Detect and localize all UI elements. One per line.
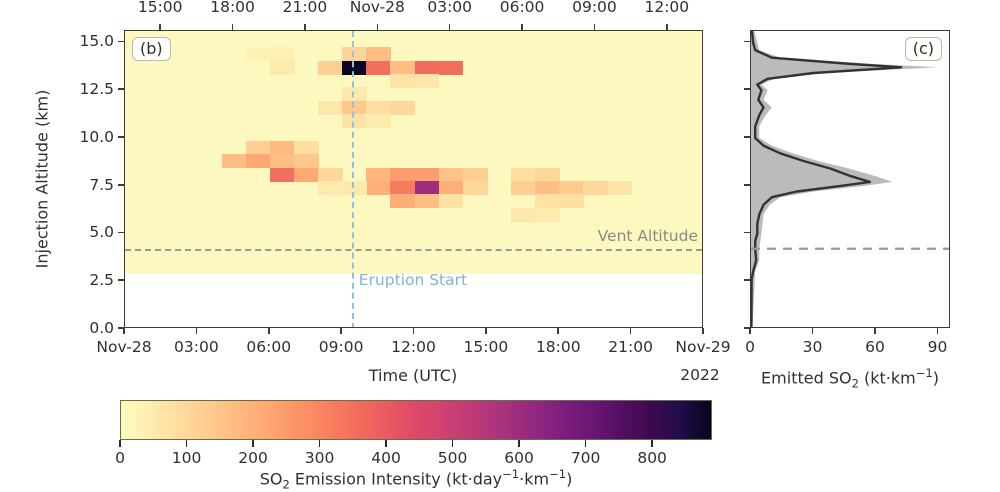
panel-c-xlabel-unit: (kt·km	[859, 368, 916, 387]
colorbar-tick: 500	[438, 449, 468, 467]
colorbar-tick-mark	[252, 440, 253, 447]
colorbar-label-mid: Emission Intensity (kt·day	[290, 469, 502, 488]
heatmap-cell	[439, 168, 464, 182]
colorbar-tick: 200	[238, 449, 268, 467]
heatmap-cell	[270, 141, 295, 155]
year-label: 2022	[680, 366, 719, 384]
heatmap-cell	[366, 47, 391, 61]
heatmap-cell	[366, 101, 391, 115]
colorbar-label-main: SO	[260, 469, 283, 488]
heatmap-cell	[342, 87, 367, 101]
top-axis-tick: 21:00	[283, 0, 328, 16]
heatmap-cell	[294, 141, 319, 155]
figure-root: 15:0018:0021:00Nov-2803:0006:0009:0012:0…	[0, 0, 1000, 489]
heatmap-cell	[415, 74, 440, 88]
panel-c-xlabel-close: )	[933, 368, 939, 387]
heatmap-cell	[342, 181, 367, 195]
heatmap-cell	[222, 154, 247, 168]
panel-b-ytick-mark	[118, 184, 124, 186]
heatmap-cell	[246, 47, 271, 61]
eruption-start-line	[352, 31, 354, 328]
colorbar-tick-mark	[651, 440, 652, 447]
heatmap-cell	[342, 114, 367, 128]
heatmap-cell	[318, 181, 343, 195]
panel-c-xtick: 60	[865, 338, 885, 356]
heatmap-cell	[390, 61, 415, 75]
colorbar-tick: 600	[504, 449, 534, 467]
heatmap-cell	[390, 168, 415, 182]
heatmap-cell	[390, 101, 415, 115]
colorbar-tick-mark	[585, 440, 586, 447]
colorbar-label-close: )	[566, 469, 572, 488]
panel-b-ytick: 15.0	[79, 32, 114, 50]
colorbar-tick: 400	[371, 449, 401, 467]
panel-b-ytick-mark	[118, 279, 124, 281]
heatmap-cell	[511, 181, 536, 195]
heatmap-cell	[535, 208, 560, 222]
heatmap-cell	[535, 194, 560, 208]
colorbar-tick-mark	[319, 440, 320, 447]
panel-b-ytick: 10.0	[79, 128, 114, 146]
panel-b-ytick: 0.0	[89, 319, 114, 337]
heatmap-cell	[318, 101, 343, 115]
colorbar-tick-mark	[385, 440, 386, 447]
colorbar-gradient	[121, 401, 711, 439]
heatmap-cell	[294, 154, 319, 168]
top-axis-tick: Nov-28	[350, 0, 405, 16]
heatmap-cell	[439, 61, 464, 75]
panel-c-xtick-mark	[749, 328, 751, 334]
heatmap-cell	[366, 114, 391, 128]
panel-b-xtick-mark	[413, 328, 415, 334]
panel-c-profile: (c)	[750, 30, 950, 328]
panel-c-ytick-mark	[744, 136, 750, 138]
panel-c-ytick-mark	[744, 88, 750, 90]
colorbar-label-exp2: −1	[549, 467, 566, 481]
panel-b-xtick: 06:00	[246, 338, 291, 356]
heatmap-cell	[439, 181, 464, 195]
panel-b-ylabel: Injection Altitude (km)	[33, 90, 52, 269]
colorbar-label-sub: 2	[282, 478, 289, 492]
panel-c-xlabel-exp: −1	[916, 366, 933, 380]
top-axis-tick: 06:00	[500, 0, 545, 16]
heatmap-cell	[270, 61, 295, 75]
eruption-start-label: Eruption Start	[359, 271, 467, 289]
colorbar-tick: 0	[115, 449, 125, 467]
heatmap-cell	[390, 74, 415, 88]
heatmap-cell	[390, 181, 415, 195]
heatmap-cell	[511, 168, 536, 182]
panel-b-xlabel: Time (UTC)	[369, 366, 457, 385]
vent-altitude-label: Vent Altitude	[598, 227, 698, 245]
panel-b-ytick: 12.5	[79, 80, 114, 98]
panel-b-xtick: 15:00	[464, 338, 509, 356]
colorbar-tick-mark	[518, 440, 519, 447]
panel-c-xtick: 0	[745, 338, 755, 356]
panel-c-xtick: 90	[928, 338, 948, 356]
panel-b-ytick-mark	[118, 88, 124, 90]
top-axis-tick: 12:00	[644, 0, 689, 16]
colorbar-label-exp1: −1	[502, 467, 519, 481]
panel-c-xlabel-sub: 2	[852, 377, 859, 391]
panel-b-xtick-mark	[123, 328, 125, 334]
colorbar-tick: 700	[571, 449, 601, 467]
colorbar	[120, 400, 712, 440]
panel-b-xtick-mark	[557, 328, 559, 334]
heatmap-cell	[366, 61, 391, 75]
panel-b-ytick: 5.0	[89, 223, 114, 241]
panel-b-xtick-mark	[702, 328, 704, 334]
vent-altitude-line	[125, 249, 702, 251]
panel-b-xtick: Nov-29	[675, 338, 730, 356]
heatmap-cell	[608, 181, 633, 195]
colorbar-tick: 300	[305, 449, 335, 467]
heatmap-cell	[559, 194, 584, 208]
panel-b-ytick: 2.5	[89, 271, 114, 289]
heatmap-cell	[511, 208, 536, 222]
colorbar-tick-mark	[119, 440, 120, 447]
heatmap-cell	[342, 47, 367, 61]
profile-plot-svg	[751, 31, 950, 328]
heatmap-cell	[246, 141, 271, 155]
heatmap-cell	[342, 101, 367, 115]
heatmap-cell	[270, 154, 295, 168]
panel-c-xtick: 30	[803, 338, 823, 356]
top-axis-tick: 03:00	[427, 0, 472, 16]
heatmap-cell	[583, 181, 608, 195]
panel-c-xtick-mark	[874, 328, 876, 334]
colorbar-label: SO2 Emission Intensity (kt·day−1·km−1)	[260, 467, 573, 492]
colorbar-label-dot: ·km	[519, 469, 549, 488]
panel-c-ytick-mark	[744, 184, 750, 186]
panel-b-xtick: 03:00	[174, 338, 219, 356]
panel-b-xtick: Nov-28	[96, 338, 151, 356]
panel-b-ytick: 7.5	[89, 176, 114, 194]
heatmap-cell	[463, 168, 488, 182]
heatmap-cell	[366, 181, 391, 195]
colorbar-tick: 100	[172, 449, 202, 467]
colorbar-tick-mark	[452, 440, 453, 447]
heatmap-cell	[366, 168, 391, 182]
panel-b-xtick: 18:00	[536, 338, 581, 356]
panel-b-ytick-mark	[118, 136, 124, 138]
heatmap-cell	[318, 61, 343, 75]
panel-b-xtick-mark	[630, 328, 632, 334]
heatmap-cell	[390, 194, 415, 208]
heatmap-cell	[415, 168, 440, 182]
panel-b-heatmap: Vent Altitude Eruption Start (b)	[124, 30, 703, 328]
panel-c-xlabel: Emitted SO2 (kt·km−1)	[761, 366, 939, 391]
colorbar-tick: 800	[637, 449, 667, 467]
uncertainty-band	[751, 31, 939, 328]
panel-b-ytick-mark	[118, 232, 124, 234]
top-axis-tick: 18:00	[210, 0, 255, 16]
heatmap-cell	[559, 181, 584, 195]
panel-b-xtick-mark	[340, 328, 342, 334]
panel-c-xtick-mark	[937, 328, 939, 334]
panel-c-xlabel-main: Emitted SO	[761, 368, 852, 387]
panel-b-xtick: 09:00	[319, 338, 364, 356]
heatmap-cell	[439, 194, 464, 208]
heatmap-cell	[270, 47, 295, 61]
colorbar-tick-mark	[186, 440, 187, 447]
heatmap-cell	[415, 61, 440, 75]
heatmap-cell	[270, 168, 295, 182]
heatmap-cell	[294, 168, 319, 182]
heatmap-cell	[415, 181, 440, 195]
heatmap-cell	[342, 61, 367, 75]
panel-c-label: (c)	[905, 37, 942, 61]
top-axis-tick: 15:00	[138, 0, 183, 16]
top-axis-tick: 09:00	[572, 0, 617, 16]
heatmap-cell	[318, 168, 343, 182]
heatmap-cell	[463, 181, 488, 195]
panel-c-ytick-mark	[744, 279, 750, 281]
panel-b-ytick-mark	[118, 41, 124, 43]
heatmap-cell	[535, 168, 560, 182]
heatmap-cell	[535, 181, 560, 195]
panel-c-xtick-mark	[812, 328, 814, 334]
panel-b-xtick: 21:00	[608, 338, 653, 356]
heatmap-cell	[415, 194, 440, 208]
panel-c-ytick-mark	[744, 41, 750, 43]
panel-b-xtick-mark	[196, 328, 198, 334]
panel-c-ytick-mark	[744, 232, 750, 234]
panel-b-label: (b)	[132, 37, 171, 61]
panel-b-xtick-mark	[485, 328, 487, 334]
panel-b-xtick-mark	[268, 328, 270, 334]
panel-b-xtick: 12:00	[391, 338, 436, 356]
heatmap-cell	[246, 154, 271, 168]
